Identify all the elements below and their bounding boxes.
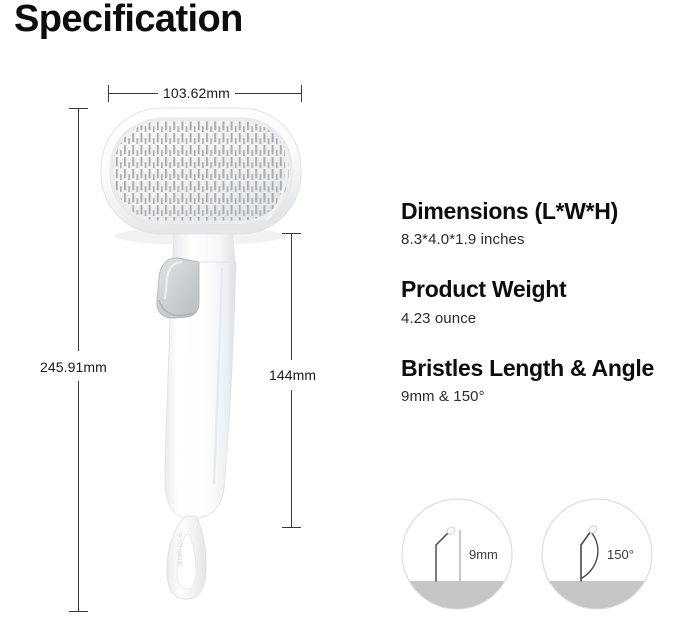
total-height-dimension-label: 245.91mm xyxy=(36,356,111,378)
spec-heading-bristles: Bristles Length & Angle xyxy=(401,355,669,381)
height-tick-bottom xyxy=(69,611,88,612)
spec-value-product-weight: 4.23 ounce xyxy=(401,310,669,327)
spec-item-dimensions: Dimensions (L*W*H) 8.3*4.0*1.9 inches xyxy=(401,198,669,248)
handle-dimension-line-upper xyxy=(291,233,292,360)
bristle-angle-figure: 150° xyxy=(541,498,653,610)
spec-value-bristles: 9mm & 150° xyxy=(401,388,669,405)
height-dimension-line-lower xyxy=(78,381,79,612)
height-tick-top xyxy=(69,108,88,109)
specification-list: Dimensions (L*W*H) 8.3*4.0*1.9 inches Pr… xyxy=(401,198,669,415)
bristle-detail-figures: 9mm 150° xyxy=(401,498,669,616)
width-dimension-callout: 103.62mm xyxy=(0,0,679,120)
width-dimension-label: 103.62mm xyxy=(158,85,235,101)
spec-item-product-weight: Product Weight 4.23 ounce xyxy=(401,276,669,326)
spec-value-dimensions: 8.3*4.0*1.9 inches xyxy=(401,231,669,248)
handle-tick-top xyxy=(282,233,301,234)
handle-height-dimension-label: 144mm xyxy=(265,364,320,386)
handle-tick-bottom xyxy=(282,527,301,528)
bristle-length-value: 9mm xyxy=(469,547,498,562)
strap-brand-text: aumuca xyxy=(174,532,184,566)
height-dimension-line-upper xyxy=(78,108,79,351)
handle-dimension-line-lower xyxy=(291,390,292,528)
width-tick-left xyxy=(108,85,109,102)
spec-heading-product-weight: Product Weight xyxy=(401,276,669,302)
spec-item-bristles: Bristles Length & Angle 9mm & 150° xyxy=(401,355,669,405)
bristle-length-figure: 9mm xyxy=(401,498,513,610)
bristle-angle-value: 150° xyxy=(607,547,634,562)
spec-heading-dimensions: Dimensions (L*W*H) xyxy=(401,198,669,224)
width-tick-right xyxy=(301,85,302,102)
